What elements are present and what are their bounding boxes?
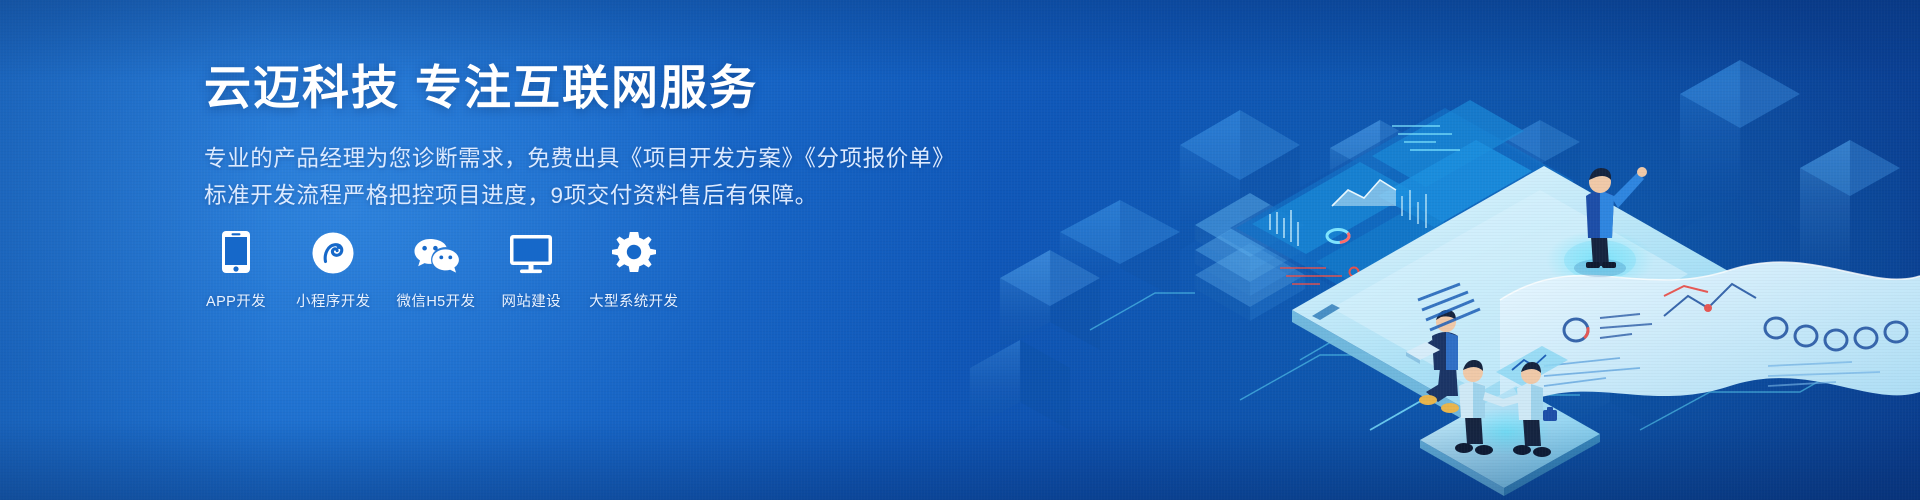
subtitle-line-1: 专业的产品经理为您诊断需求，免费出具《项目开发方案》《分项报价单》 (204, 141, 924, 176)
service-item-app[interactable]: APP开发 (206, 228, 266, 311)
service-label-wechat-h5: 微信H5开发 (397, 290, 476, 311)
monitor-icon (509, 228, 553, 274)
promo-banner: 云迈科技 专注互联网服务 专业的产品经理为您诊断需求，免费出具《项目开发方案》《… (0, 0, 1920, 500)
mini-program-icon (312, 228, 354, 274)
banner-copy: 云迈科技 专注互联网服务 专业的产品经理为您诊断需求，免费出具《项目开发方案》《… (204, 62, 924, 213)
service-label-website: 网站建设 (501, 290, 561, 311)
wechat-icon (413, 228, 459, 274)
service-item-large-system[interactable]: 大型系统开发 (589, 228, 678, 311)
gear-icon (612, 228, 656, 274)
service-item-mini-program[interactable]: 小程序开发 (296, 228, 371, 311)
service-item-wechat-h5[interactable]: 微信H5开发 (397, 228, 476, 311)
service-label-app: APP开发 (206, 290, 266, 311)
service-item-website[interactable]: 网站建设 (501, 228, 561, 311)
service-label-mini-program: 小程序开发 (296, 290, 371, 311)
service-label-large-system: 大型系统开发 (589, 290, 678, 311)
service-list: APP开发 小程序开发 (206, 228, 678, 311)
page-title: 云迈科技 专注互联网服务 (204, 62, 924, 115)
subtitle-line-2: 标准开发流程严格把控项目进度，9项交付资料售后有保障。 (204, 178, 924, 213)
mobile-phone-icon (221, 228, 251, 274)
illustration-container (940, 0, 1920, 500)
isometric-data-platform-illustration (940, 0, 1920, 500)
